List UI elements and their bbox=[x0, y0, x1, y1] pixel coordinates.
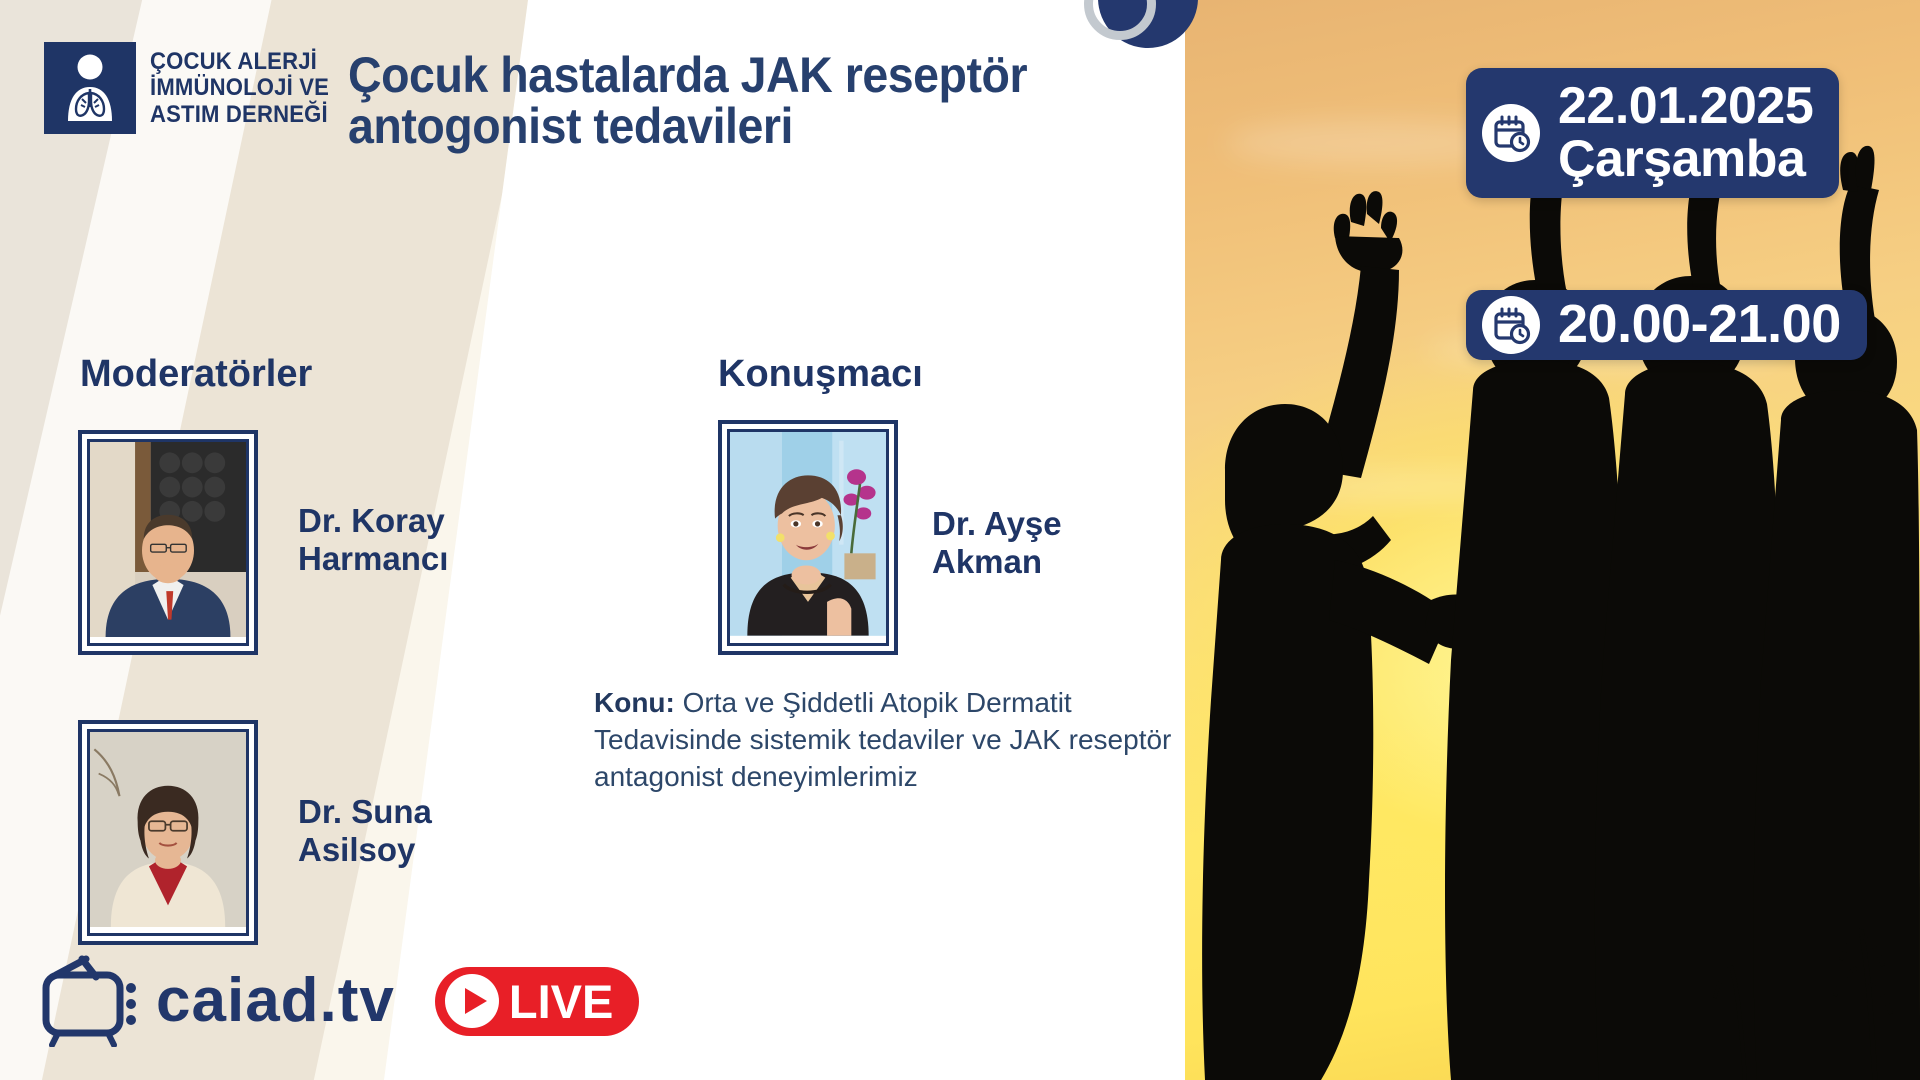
poster-title: Çocuk hastalarda JAK reseptör antogonist… bbox=[348, 50, 1111, 152]
moderator-photo-frame-2 bbox=[78, 720, 258, 945]
topic-text: Orta ve Şiddetli Atopik Dermatit Tedavis… bbox=[594, 687, 1171, 792]
date-badge-text: 22.01.2025 Çarşamba bbox=[1558, 80, 1813, 186]
calendar-clock-icon bbox=[1482, 104, 1540, 162]
speaker-photo-frame bbox=[718, 420, 898, 655]
moderator-name-2-line2: Asilsoy bbox=[298, 831, 432, 869]
moderators-heading: Moderatörler bbox=[80, 353, 312, 396]
topic-block: Konu: Orta ve Şiddetli Atopik Dermatit T… bbox=[594, 684, 1185, 796]
webinar-poster: ÇOCUK ALERJİ İMMÜNOLOJİ VE ASTIM DERNEĞİ… bbox=[0, 0, 1920, 1080]
play-icon bbox=[445, 974, 499, 1028]
footer-branding: caiad.tv LIVE bbox=[38, 955, 639, 1047]
live-label: LIVE bbox=[509, 974, 613, 1029]
event-day: Çarşamba bbox=[1558, 133, 1813, 186]
moderator-name-1-line1: Dr. Koray bbox=[298, 502, 448, 540]
title-line-2: antogonist tedavileri bbox=[348, 101, 1111, 152]
brand-name[interactable]: caiad.tv bbox=[156, 970, 395, 1032]
logo-line-2: İMMÜNOLOJİ VE bbox=[150, 75, 329, 100]
organization-logo: ÇOCUK ALERJİ İMMÜNOLOJİ VE ASTIM DERNEĞİ bbox=[44, 42, 345, 134]
organization-name: ÇOCUK ALERJİ İMMÜNOLOJİ VE ASTIM DERNEĞİ bbox=[150, 49, 345, 127]
time-badge-text: 20.00-21.00 bbox=[1558, 297, 1841, 352]
time-badge: 20.00-21.00 bbox=[1466, 290, 1867, 360]
speaker-heading: Konuşmacı bbox=[718, 353, 923, 396]
speaker-name-line2: Akman bbox=[932, 543, 1062, 581]
moderator-name-1-line2: Harmancı bbox=[298, 540, 448, 578]
topic-label: Konu: bbox=[594, 687, 675, 718]
moderator-name-2: Dr. Suna Asilsoy bbox=[298, 793, 432, 870]
title-line-1: Çocuk hastalarda JAK reseptör bbox=[348, 50, 1111, 101]
calendar-clock-icon bbox=[1482, 296, 1540, 354]
portrait-suna-asilsoy bbox=[87, 729, 249, 936]
moderator-name-2-line1: Dr. Suna bbox=[298, 793, 432, 831]
retro-tv-icon bbox=[38, 955, 150, 1047]
logo-line-3: ASTIM DERNEĞİ bbox=[150, 102, 329, 127]
speaker-name-line1: Dr. Ayşe bbox=[932, 505, 1062, 543]
torso-lungs-icon bbox=[44, 42, 136, 134]
portrait-koray-harmanci bbox=[87, 439, 249, 646]
live-badge[interactable]: LIVE bbox=[435, 967, 639, 1036]
event-date: 22.01.2025 bbox=[1558, 77, 1813, 135]
speaker-name: Dr. Ayşe Akman bbox=[932, 505, 1062, 582]
moderator-photo-frame-1 bbox=[78, 430, 258, 655]
moderator-name-1: Dr. Koray Harmancı bbox=[298, 502, 448, 579]
date-badge: 22.01.2025 Çarşamba bbox=[1466, 68, 1839, 198]
portrait-ayse-akman bbox=[727, 429, 889, 646]
logo-line-1: ÇOCUK ALERJİ bbox=[150, 49, 329, 74]
left-content-panel: ÇOCUK ALERJİ İMMÜNOLOJİ VE ASTIM DERNEĞİ… bbox=[0, 0, 1185, 1080]
